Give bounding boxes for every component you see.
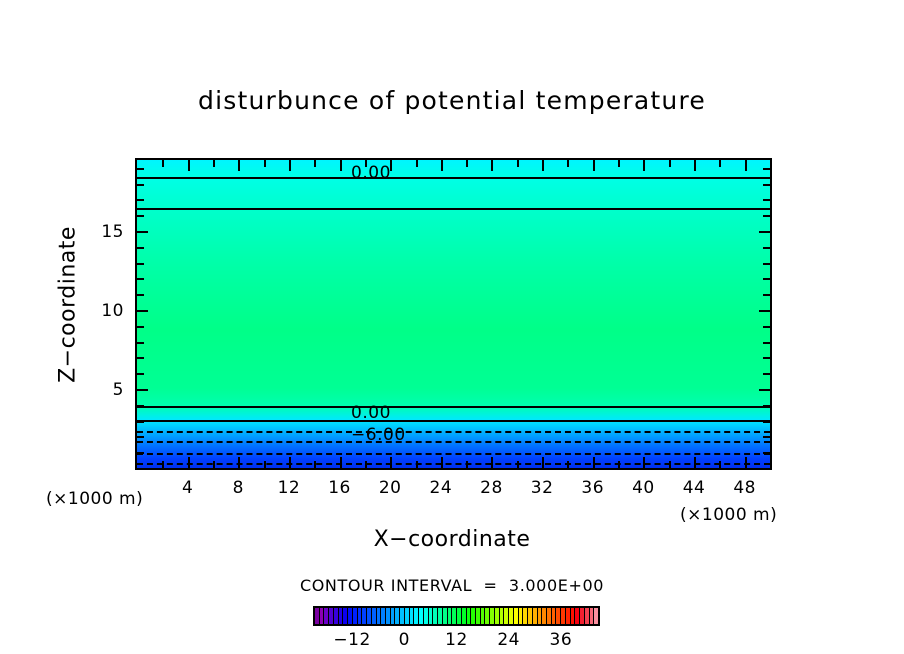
tick-mark [264,461,266,468]
contour-interval-label: CONTOUR INTERVAL = 3.000E+00 [0,576,904,595]
tick-mark [763,184,770,186]
y-tick-label: 10 [96,301,124,321]
tick-mark [763,357,770,359]
tick-mark [137,184,144,186]
x-tick-label: 48 [725,478,765,498]
tick-mark [491,457,493,468]
tick-mark [694,160,696,171]
tick-mark [188,457,190,468]
x-axis-title: X−coordinate [0,527,904,552]
tick-mark [137,294,144,296]
colorbar-tick-label: 24 [484,630,534,650]
tick-mark [719,160,721,167]
tick-mark [763,294,770,296]
tick-mark [188,160,190,171]
tick-mark [340,457,342,468]
tick-mark [416,160,418,167]
contour-line [137,463,770,465]
tick-mark [137,389,148,391]
x-axis-units-label: (×1000 m) [680,505,777,525]
tick-mark [416,461,418,468]
tick-mark [669,160,671,167]
x-tick-label: 24 [421,478,461,498]
tick-mark [238,160,240,171]
tick-mark [567,160,569,167]
tick-mark [763,326,770,328]
contour-line [137,208,770,210]
tick-mark [763,263,770,265]
tick-mark [517,160,519,167]
tick-mark [542,160,544,171]
tick-mark [137,421,144,423]
tick-mark [137,263,144,265]
tick-mark [137,452,144,454]
tick-mark [137,342,144,344]
tick-mark [763,436,770,438]
y-axis-units-label: (×1000 m) [46,489,143,509]
tick-mark [763,342,770,344]
contour-value-label: −6.00 [349,427,408,444]
tick-mark [213,461,215,468]
tick-mark [137,247,144,249]
contour-line [137,406,770,408]
x-tick-label: 4 [168,478,208,498]
tick-mark [593,160,595,171]
colorbar-tick-label: 12 [432,630,482,650]
x-tick-label: 32 [522,478,562,498]
x-tick-label: 44 [674,478,714,498]
tick-mark [763,278,770,280]
tick-mark [763,199,770,201]
x-tick-label: 8 [218,478,258,498]
tick-mark [466,160,468,167]
contour-line [137,453,770,455]
tick-mark [137,168,144,170]
tick-mark [763,421,770,423]
y-tick-label: 15 [96,222,124,242]
contour-value-label: 0.00 [349,165,393,182]
tick-mark [669,461,671,468]
contour-value-label: 0.00 [349,405,393,422]
colorbar [313,606,600,626]
tick-mark [763,168,770,170]
tick-mark [264,160,266,167]
tick-mark [365,160,367,167]
contour-line [137,177,770,179]
tick-mark [763,247,770,249]
tick-mark [491,160,493,171]
tick-mark [763,452,770,454]
tick-mark [137,310,148,312]
tick-mark [745,160,747,171]
x-tick-label: 16 [320,478,360,498]
page-title: disturbunce of potential temperature [0,86,904,115]
tick-mark [137,199,144,201]
tick-mark [137,357,144,359]
contour-line [137,441,770,443]
tick-mark [213,160,215,167]
tick-mark [137,436,144,438]
contour-line [137,431,770,433]
tick-mark [542,457,544,468]
tick-mark [340,160,342,171]
tick-mark [314,461,316,468]
tick-mark [441,457,443,468]
tick-mark [137,231,148,233]
tick-mark [137,405,144,407]
contour-line [137,420,770,422]
tick-mark [137,215,144,217]
tick-mark [763,215,770,217]
tick-mark [643,160,645,171]
colorbar-swatch [594,608,598,624]
tick-mark [162,461,164,468]
tick-mark [162,160,164,167]
tick-mark [694,457,696,468]
tick-mark [390,457,392,468]
colorbar-tick-label: 36 [536,630,586,650]
tick-mark [365,461,367,468]
tick-mark [137,326,144,328]
tick-mark [390,160,392,171]
tick-mark [618,160,620,167]
tick-mark [289,160,291,171]
tick-mark [314,160,316,167]
x-tick-label: 12 [269,478,309,498]
tick-mark [567,461,569,468]
tick-mark [745,457,747,468]
y-axis-title: Z−coordinate [56,195,81,415]
tick-mark [618,461,620,468]
x-tick-label: 20 [370,478,410,498]
tick-mark [759,389,770,391]
tick-mark [466,461,468,468]
tick-mark [441,160,443,171]
tick-mark [759,231,770,233]
tick-mark [719,461,721,468]
tick-mark [289,457,291,468]
tick-mark [763,373,770,375]
y-tick-label: 5 [96,380,124,400]
tick-mark [517,461,519,468]
tick-mark [643,457,645,468]
contour-plot-panel: 0.000.00−6.00 [135,158,772,470]
x-tick-label: 40 [623,478,663,498]
colorbar-tick-label: −12 [327,630,377,650]
x-tick-label: 36 [573,478,613,498]
tick-mark [759,310,770,312]
x-tick-label: 28 [471,478,511,498]
tick-mark [593,457,595,468]
colorbar-tick-label: 0 [379,630,429,650]
tick-mark [137,373,144,375]
tick-mark [763,405,770,407]
tick-mark [137,278,144,280]
tick-mark [238,457,240,468]
